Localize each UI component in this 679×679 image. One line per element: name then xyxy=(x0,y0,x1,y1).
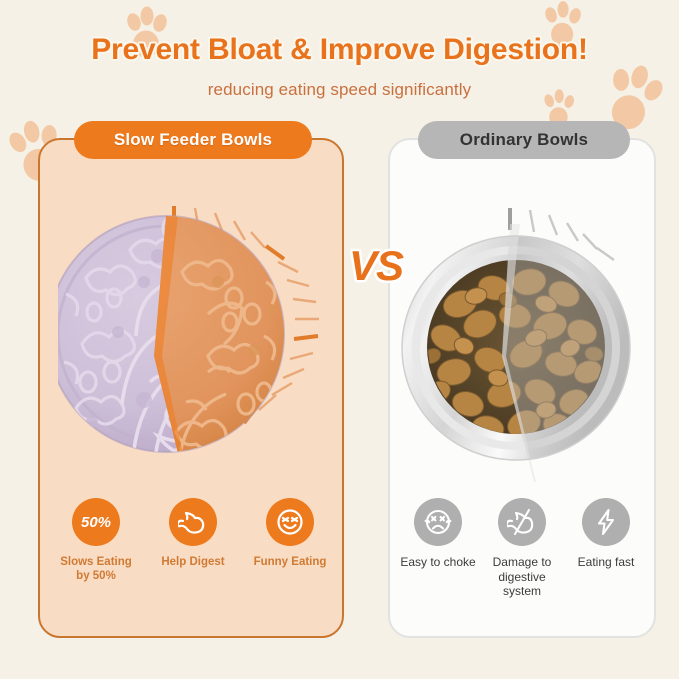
feature-label: Funny Eating xyxy=(254,555,327,569)
percent-50-icon: 50% xyxy=(72,498,120,546)
stomach-icon xyxy=(169,498,217,546)
feature-item: 50% Slows Eating by 50% xyxy=(52,498,140,583)
feature-label: Easy to choke xyxy=(400,555,475,570)
lightning-bolt-icon xyxy=(582,498,630,546)
page-subtitle: reducing eating speed significantly xyxy=(0,80,679,100)
feature-item: Funny Eating xyxy=(246,498,334,583)
infographic-canvas: Prevent Bloat & Improve Digestion! reduc… xyxy=(0,0,679,679)
feature-item: Eating fast xyxy=(566,498,646,599)
choking-face-icon xyxy=(414,498,462,546)
feature-list-ordinary: Easy to choke Damage to digestive system… xyxy=(398,498,646,599)
feature-item: Easy to choke xyxy=(398,498,478,599)
feature-item: Damage to digestive system xyxy=(482,498,562,599)
badge-ordinary-bowls: Ordinary Bowls xyxy=(418,121,630,159)
stomach-crossed-out-icon xyxy=(498,498,546,546)
feature-label: Eating fast xyxy=(578,555,635,570)
vs-badge: VS xyxy=(336,240,416,292)
product-image-ordinary-bowl xyxy=(398,196,646,482)
feature-item: Help Digest xyxy=(149,498,237,583)
feature-label: Damage to digestive system xyxy=(482,555,562,599)
feature-list-slow-feeder: 50% Slows Eating by 50% Help Digest xyxy=(52,498,334,583)
product-image-slow-feeder-bowl xyxy=(58,186,324,482)
happy-face-icon xyxy=(266,498,314,546)
page-title: Prevent Bloat & Improve Digestion! xyxy=(0,33,679,67)
feature-label: Slows Eating by 50% xyxy=(52,555,140,583)
header: Prevent Bloat & Improve Digestion! reduc… xyxy=(0,0,679,118)
feature-label: Help Digest xyxy=(161,555,224,569)
badge-slow-feeder-bowls: Slow Feeder Bowls xyxy=(74,121,312,159)
